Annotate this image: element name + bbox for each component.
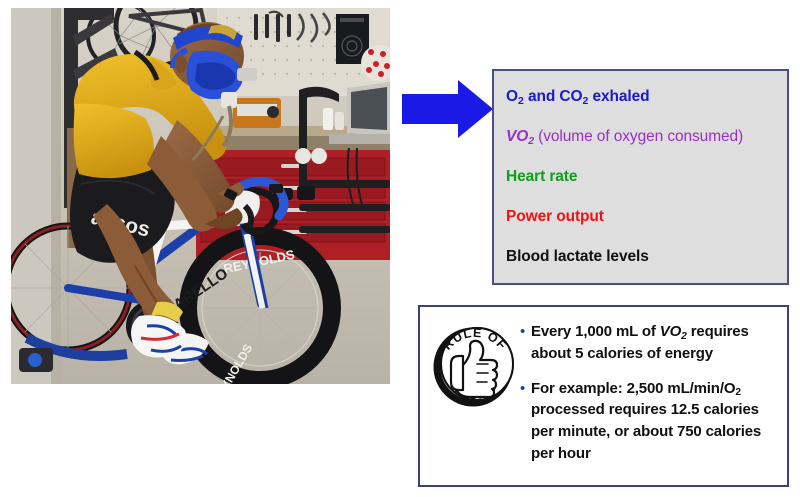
right-arrow-icon (400, 78, 495, 140)
bullet-dot-icon: • (520, 378, 531, 400)
rule-of-thumb-panel: RULE OF THUMB • Every 1,000 mL of VO2 re… (418, 305, 789, 487)
photo-illustration: REYNOLDS REYNOLDS PINARELLO (11, 8, 390, 384)
measurement-row-blood-lactate: Blood lactate levels (506, 248, 775, 288)
measurement-blood-lactate: Blood lactate levels (506, 248, 649, 266)
vo2-description: (volume of oxygen consumed) (534, 128, 743, 145)
b2-post: processed requires 12.5 calories per min… (531, 401, 761, 462)
bullet-dot-icon: • (520, 321, 531, 343)
measurements-panel: O2 and CO2 exhaled VO2 (volume of oxygen… (492, 69, 789, 285)
vo2-label: VO (506, 128, 528, 145)
rule-of-thumb-bullet-list: • Every 1,000 mL of VO2 requires about 5… (520, 315, 782, 475)
b2-pre: For example: 2,500 mL/min/O (531, 380, 735, 397)
co2-subscript-2: 2 (582, 95, 588, 107)
measurement-row-o2-co2: O2 and CO2 exhaled (506, 85, 775, 128)
o2-label-post: exhaled (588, 88, 649, 105)
thumbs-up-stamp-graphic: RULE OF THUMB (427, 319, 523, 412)
b1-pre: Every 1,000 mL of (531, 323, 660, 340)
vo2-subscript: 2 (528, 135, 534, 147)
measurement-vo2: VO2 (volume of oxygen consumed) (506, 128, 743, 146)
measurement-power-output: Power output (506, 208, 604, 226)
measurement-o2-co2: O2 and CO2 exhaled (506, 88, 649, 106)
flow-arrow-right (400, 78, 495, 140)
b1-vo2-label: VO (660, 323, 681, 340)
o2-label-pre: O (506, 88, 518, 105)
o2-subscript-1: 2 (518, 95, 524, 107)
measurement-row-power-output: Power output (506, 208, 775, 248)
b1-vo2-subscript: 2 (681, 331, 687, 342)
measurement-heart-rate: Heart rate (506, 168, 577, 186)
bullet-text-every-1000: Every 1,000 mL of VO2 requires about 5 c… (531, 321, 782, 365)
list-item: • Every 1,000 mL of VO2 requires about 5… (520, 321, 782, 365)
rule-of-thumb-stamp-icon: RULE OF THUMB (427, 319, 523, 412)
measurement-row-heart-rate: Heart rate (506, 168, 775, 208)
measurement-row-vo2: VO2 (volume of oxygen consumed) (506, 128, 775, 168)
list-item: • For example: 2,500 mL/min/O2 processed… (520, 378, 782, 465)
o2-label-mid: and CO (524, 88, 583, 105)
bullet-text-for-example: For example: 2,500 mL/min/O2 processed r… (531, 378, 782, 465)
cyclist-metabolic-test-photo: REYNOLDS REYNOLDS PINARELLO (11, 8, 390, 384)
b2-o2-subscript: 2 (735, 387, 741, 398)
